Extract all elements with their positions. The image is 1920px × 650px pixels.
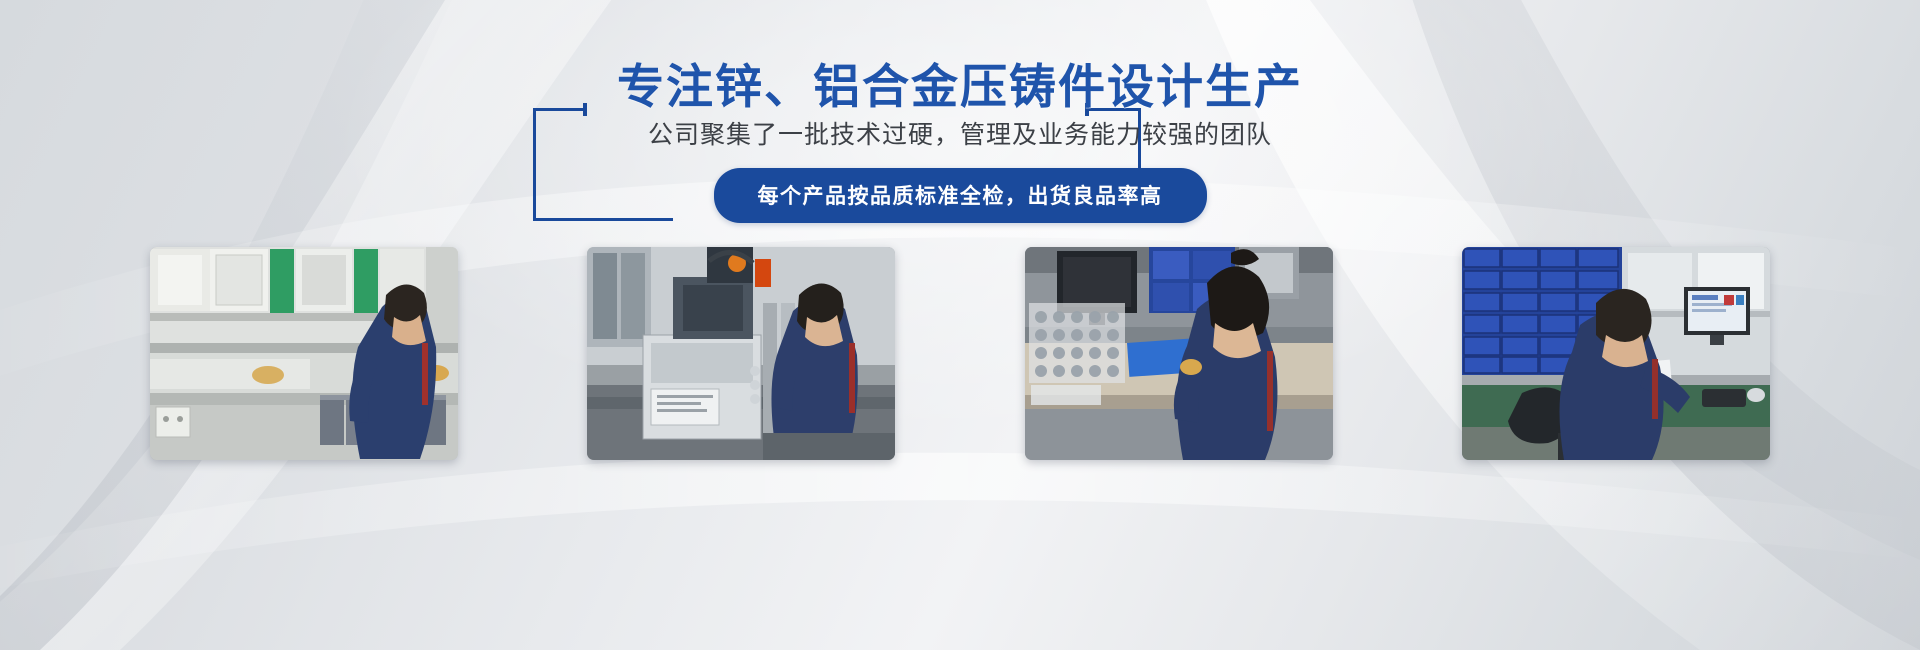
photo-office-workstation-image: [1462, 247, 1770, 460]
banner-title: 专注锌、铝合金压铸件设计生产: [0, 59, 1920, 114]
quality-badge: 每个产品按品质标准全检，出货良品率高: [714, 168, 1207, 223]
photo-warehouse-sorting-image: [150, 247, 458, 460]
photo-die-casting-machine: [587, 247, 895, 460]
photo-quality-inspection: [1025, 247, 1333, 460]
badge-row: 每个产品按品质标准全检，出货良品率高: [0, 168, 1920, 223]
photo-strip: [150, 247, 1770, 460]
photo-quality-inspection-image: [1025, 247, 1333, 460]
photo-warehouse-sorting: [150, 247, 458, 460]
banner-subtitle: 公司聚集了一批技术过硬，管理及业务能力较强的团队: [0, 119, 1920, 153]
photo-die-casting-machine-image: [587, 247, 895, 460]
promo-banner: 专注锌、铝合金压铸件设计生产 公司聚集了一批技术过硬，管理及业务能力较强的团队 …: [0, 0, 1920, 650]
photo-office-workstation: [1462, 247, 1770, 460]
